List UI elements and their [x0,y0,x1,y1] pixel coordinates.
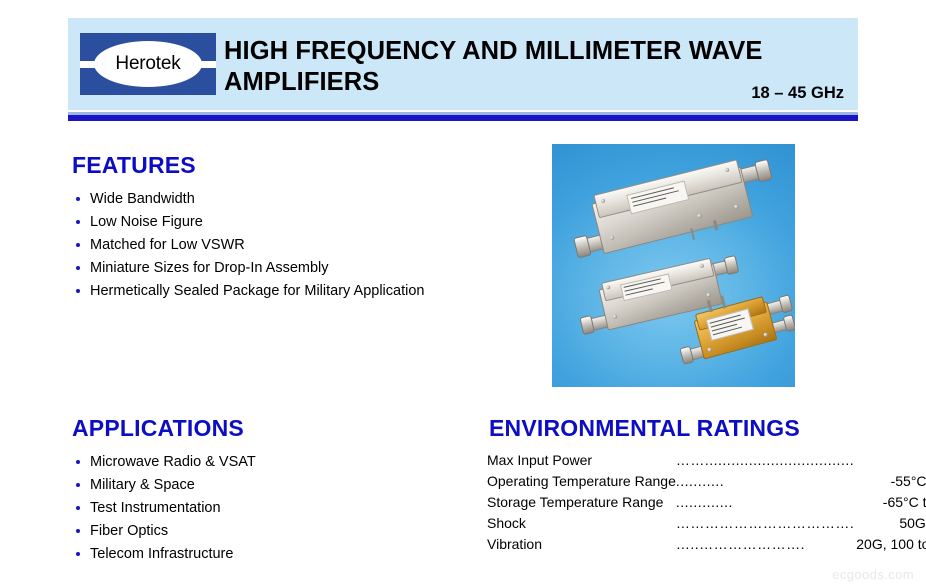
list-item: Low Noise Figure [74,211,424,234]
applications-list: Microwave Radio & VSAT Military & Space … [74,451,256,566]
applications-heading: APPLICATIONS [72,415,244,442]
table-row: Vibration …..…………………. 20G, 100 to 2000 H… [487,534,926,555]
rating-value: 100mW [854,450,926,471]
list-item: Miniature Sizes for Drop-In Assembly [74,257,424,280]
table-row: Operating Temperature Range ........... … [487,471,926,492]
rating-leader: …….................................. [676,450,854,471]
header-banner: Herotek HIGH FREQUENCY AND MILLIMETER WA… [68,18,858,110]
list-item: Hermetically Sealed Package for Military… [74,280,424,303]
rating-leader: ............. [676,492,854,513]
rating-label: Shock [487,513,676,534]
rating-leader: ........... [676,471,854,492]
list-item: Fiber Optics [74,520,256,543]
list-item: Military & Space [74,474,256,497]
header-rule-dark [68,115,858,121]
rating-value: -65°C to +125°C [854,492,926,513]
rating-label: Vibration [487,534,676,555]
herotek-logo: Herotek [80,33,216,95]
product-photo [552,144,795,387]
list-item: Test Instrumentation [74,497,256,520]
logo-ellipse: Herotek [94,41,202,87]
frequency-range-label: 18 – 45 GHz [751,84,844,103]
table-row: Shock ………………………………. 50G, 11 msec [487,513,926,534]
rating-value: 50G, 11 msec [854,513,926,534]
site-watermark: ecgoods.com [832,567,914,582]
features-heading: FEATURES [72,152,196,179]
features-list: Wide Bandwidth Low Noise Figure Matched … [74,188,424,303]
rating-label: Max Input Power [487,450,676,471]
environmental-ratings-table: Max Input Power ……......................… [487,450,926,555]
rating-leader: …..…………………. [676,534,854,555]
rating-value: -55°C to +85°C [854,471,926,492]
list-item: Wide Bandwidth [74,188,424,211]
table-row: Storage Temperature Range ............. … [487,492,926,513]
rating-label: Storage Temperature Range [487,492,676,513]
rating-leader: ………………………………. [676,513,854,534]
rating-label: Operating Temperature Range [487,471,676,492]
list-item: Matched for Low VSWR [74,234,424,257]
logo-text: Herotek [115,53,180,75]
list-item: Telecom Infrastructure [74,543,256,566]
environmental-ratings-heading: ENVIRONMENTAL RATINGS [489,415,800,442]
rating-value: 20G, 100 to 2000 Hz [854,534,926,555]
list-item: Microwave Radio & VSAT [74,451,256,474]
table-row: Max Input Power ……......................… [487,450,926,471]
